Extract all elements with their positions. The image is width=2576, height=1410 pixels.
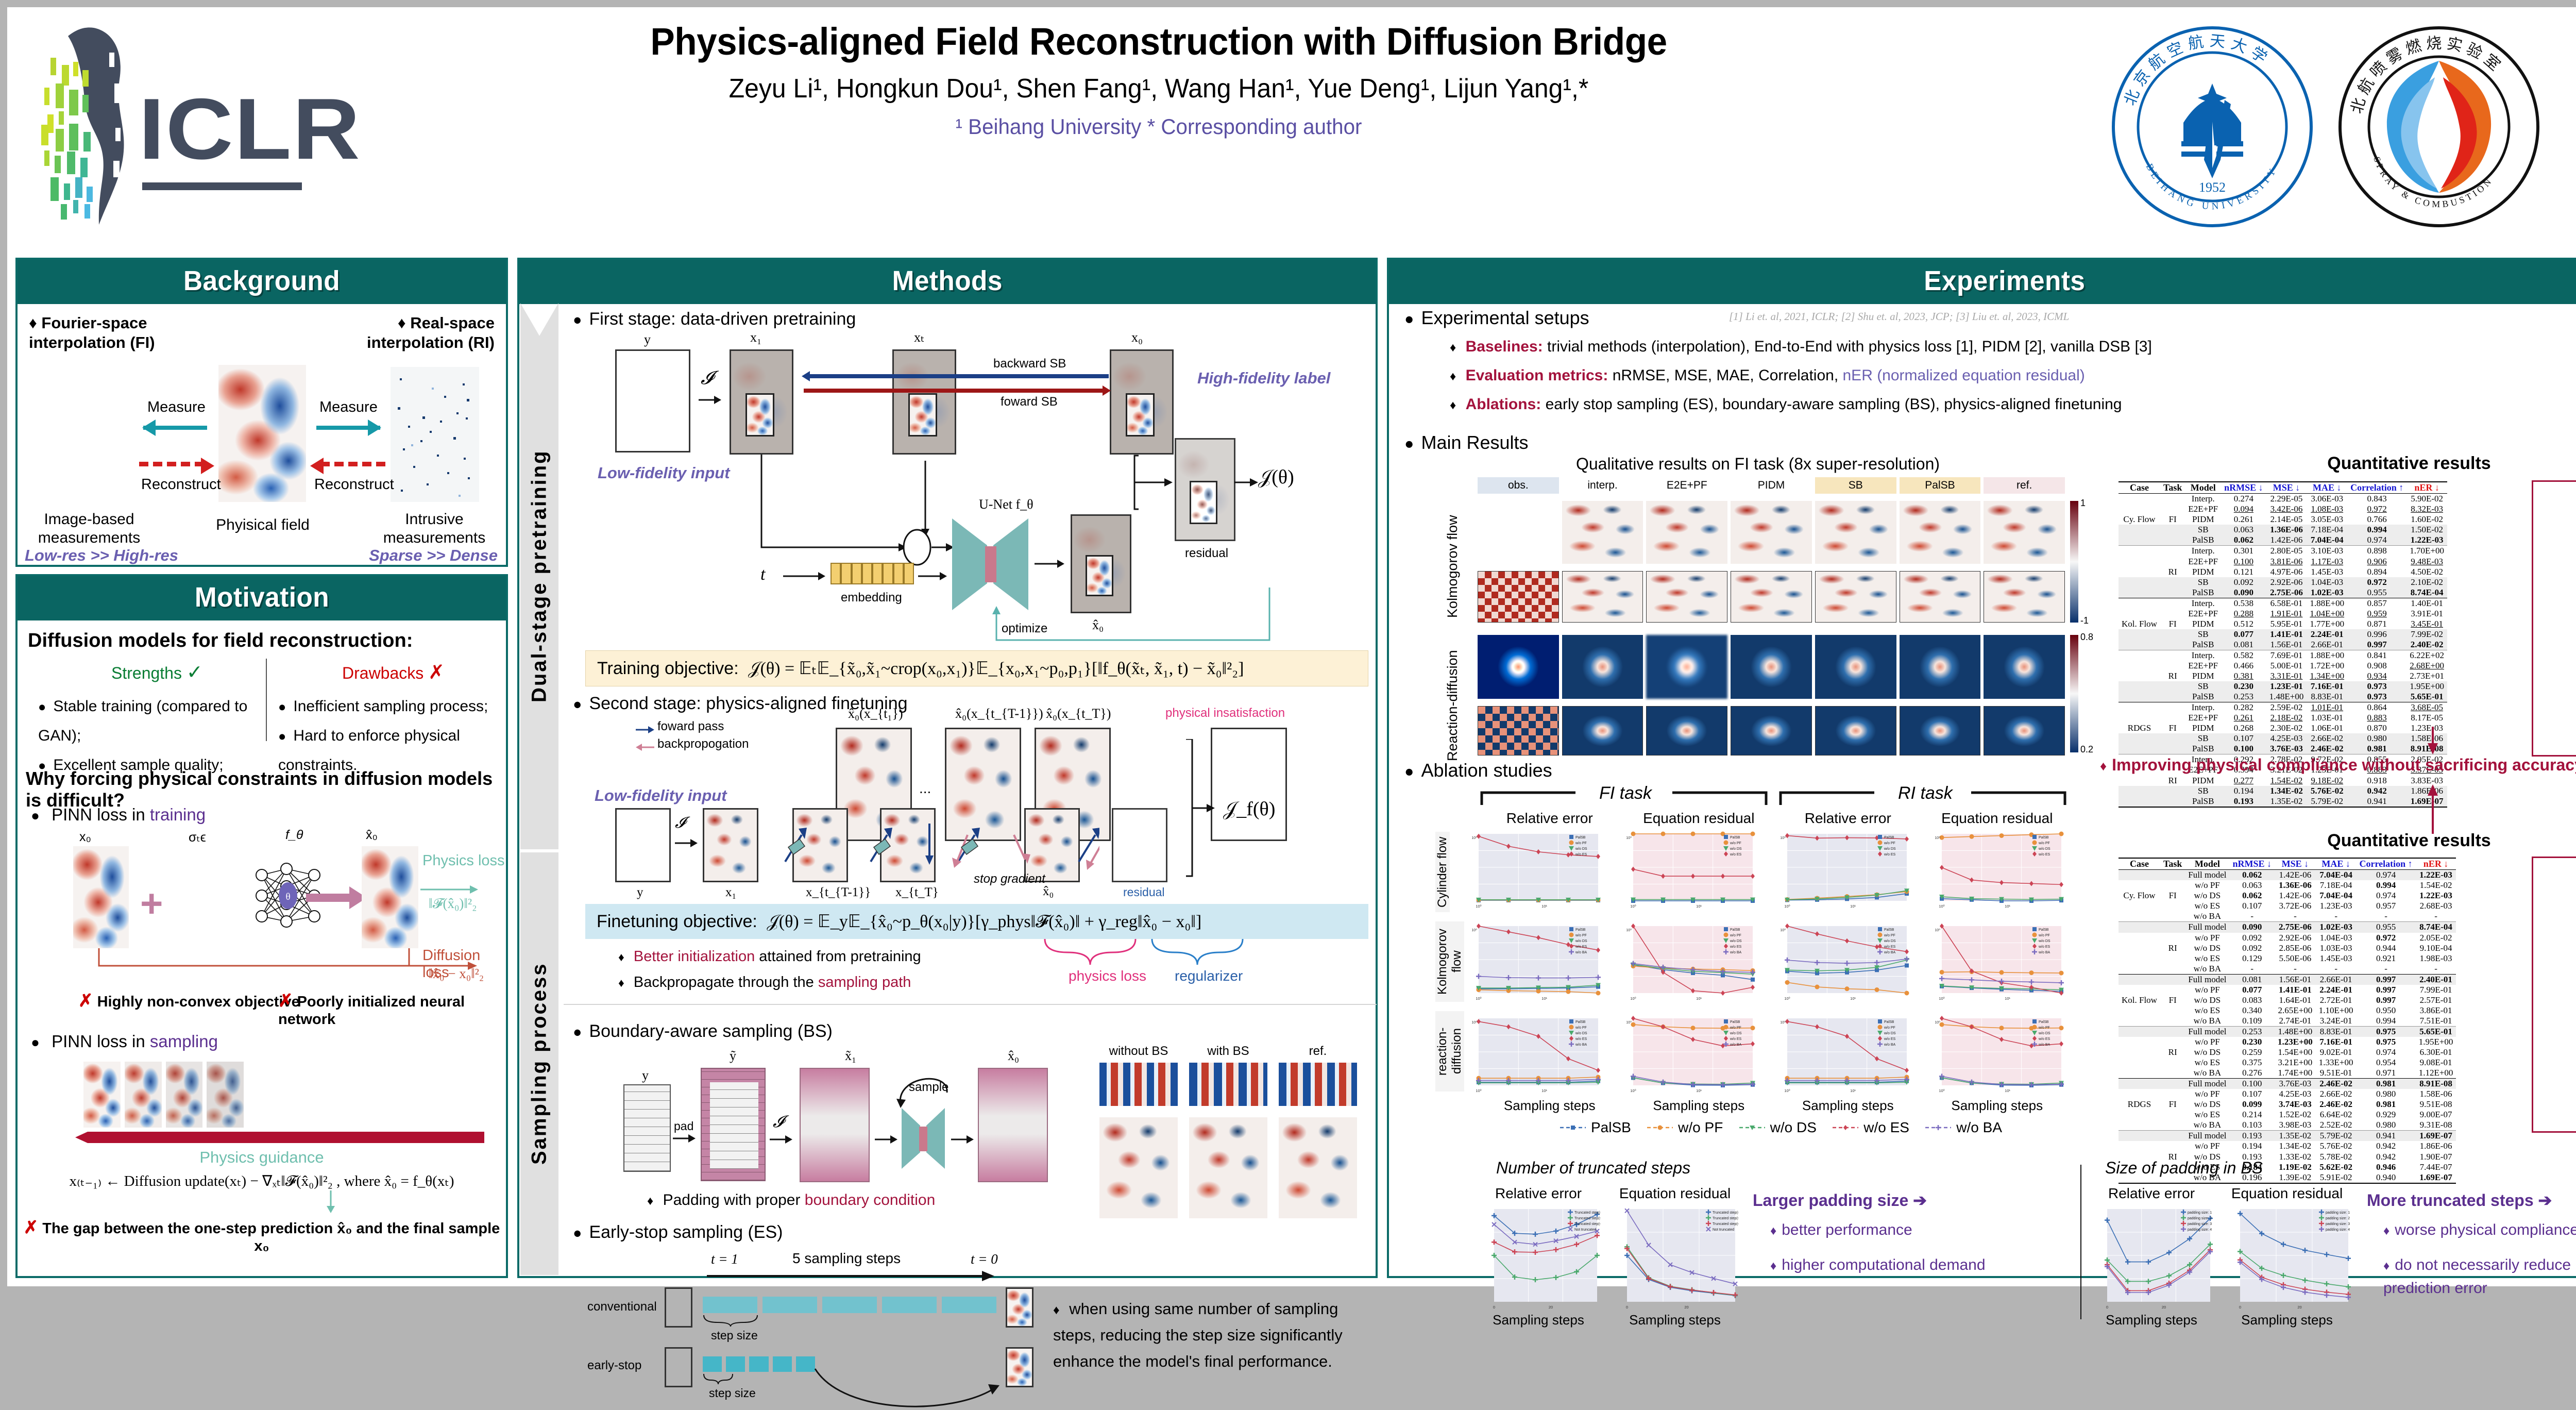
table-row: SB0.0771.41E-012.24E-010.9967.99E-02 [2119, 629, 2447, 640]
table-row: w/o ES0.1295.50E-061.45E-030.9211.98E-03 [2119, 953, 2456, 964]
table-cell-value: 1.04E-03 [2316, 933, 2357, 943]
table-row: Full model0.1931.35E-025.79E-020.9411.69… [2119, 1131, 2456, 1142]
table-cell-case [2119, 650, 2160, 661]
table-cell-value: 0.092 [2230, 933, 2275, 943]
table-row: Full model0.0621.42E-067.04E-040.9741.22… [2119, 870, 2456, 881]
table-cell-value: 0.230 [2230, 1037, 2275, 1047]
table-cell-value: 1.56E-01 [2266, 640, 2307, 650]
physics-loss-label: Physics loss [422, 852, 505, 869]
table-cell-value: 1.45E-03 [2316, 953, 2357, 964]
table-row: w/o PF0.0922.92E-061.04E-030.9722.05E-02 [2119, 933, 2456, 943]
qual-row-label-kolmogorov: Kolmogorov flow [1445, 502, 1461, 631]
table-cell-value: 0.975 [2357, 1037, 2416, 1047]
table-cell-task [2160, 650, 2185, 661]
es-early-start-image [665, 1347, 692, 1387]
table-row: Cy. FlowFIPIDM0.2612.14E-053.05E-030.766… [2119, 514, 2447, 525]
qual-zoom-reaction [1478, 706, 2065, 756]
table-cell-task [2160, 870, 2185, 881]
ner-highlight-box-main [2532, 480, 2576, 757]
table-cell-value: 2.05E-02 [2416, 933, 2456, 943]
svg-text:10¹: 10¹ [1850, 1088, 1856, 1093]
reconstruct-arrow-right-icon [320, 462, 385, 466]
motivation-panel-title: Motivation [18, 576, 506, 620]
table-cell-model: w/o PF [2185, 985, 2229, 995]
cross-icon-2: ✗ [278, 991, 293, 1011]
chart-row-title-2: reaction-diffusion [1435, 1011, 1464, 1092]
mini-chart: 020padding size: 1padding size: 2padding… [2223, 1205, 2351, 1311]
table-cell-value: 1.98E-03 [2416, 953, 2456, 964]
table-cell-value: 0.077 [2221, 629, 2266, 640]
forward-sb-label: foward SB [1001, 395, 1058, 409]
table-cell-value: 0.261 [2221, 713, 2266, 723]
table-cell-value: 6.64E-02 [2316, 1110, 2357, 1120]
table-cell-value: 0.980 [2357, 1120, 2416, 1131]
table-cell-value: 1.02E-03 [2307, 587, 2347, 598]
table-cell-value: 4.97E-06 [2266, 567, 2307, 577]
table-cell-task [2160, 1037, 2185, 1047]
svg-text:PalSB: PalSB [1730, 836, 1740, 840]
table-cell-value: 1.02E-03 [2316, 922, 2357, 933]
table-cell-task [2160, 880, 2185, 891]
ablation-chart-cell: 10⁰10⁰10¹PalSBw/o PFw/o DSw/o ES [1770, 830, 1915, 913]
table-cell-value: 0.994 [2357, 880, 2416, 891]
iclr-logo: ICLR [28, 19, 316, 235]
mini-chart: 10⁰10⁰10¹PalSBw/o PFw/o DSw/o ESw/o BA [1616, 922, 1756, 1002]
table-cell-task [2160, 744, 2185, 754]
table-cell-value: 0.194 [2221, 786, 2266, 796]
table-cell-value: 0.766 [2347, 514, 2406, 525]
iclr-head-icon [37, 23, 145, 229]
table-cell-value: 5.79E-02 [2316, 1131, 2357, 1142]
bs-unet-icon [900, 1105, 947, 1172]
table-cell-value: 0.083 [2230, 995, 2275, 1005]
svg-text:w/o PF: w/o PF [1575, 842, 1587, 845]
table-cell-model: w/o DS [2185, 1047, 2229, 1057]
table-row: w/o PF0.1074.25E-032.66E-020.9801.58E-06 [2119, 1089, 2456, 1099]
es-note: when using same number of sampling steps… [1053, 1296, 1357, 1374]
experiments-panel-title: Experiments [1389, 260, 2576, 304]
table-cell-task [2160, 681, 2185, 692]
bs-x1tilde-image [800, 1068, 870, 1182]
svg-text:padding size: 3: padding size: 3 [2188, 1222, 2212, 1226]
table-cell-case [2119, 943, 2160, 953]
table-cell-case [2119, 1162, 2160, 1172]
table-cell-value: 0.957 [2357, 901, 2416, 911]
table-row: RDGSFIw/o DS0.0993.74E-032.46E-020.9819.… [2119, 1099, 2456, 1110]
table-row: Interp.0.5386.58E-011.88E+000.8571.40E-0… [2119, 598, 2447, 609]
pad-chart-title-1: Equation residual [2223, 1185, 2351, 1202]
step-size-label-2: step size [709, 1386, 756, 1400]
table-cell-value: 1.74E+00 [2275, 1068, 2316, 1079]
setup-metrics: Evaluation metrics: nRMSE, MSE, MAE, Cor… [1450, 367, 2085, 384]
table-row: w/o BA----- [2119, 911, 2456, 922]
table-cell-model: PIDM [2185, 723, 2221, 733]
table-cell-task: RI [2160, 567, 2185, 577]
svg-text:20: 20 [2162, 1305, 2166, 1310]
trunc-chart-rel: 020Truncated step(s): 1Truncated step(s)… [1477, 1205, 1600, 1314]
table-cell-value: 7.18E-04 [2316, 880, 2357, 891]
xlabel-0: Sampling steps [1480, 1098, 1620, 1114]
table-cell-value: 1.01E-01 [2307, 702, 2347, 713]
table-cell-value: 2.65E+00 [2275, 1005, 2316, 1016]
svg-text:w/o PF: w/o PF [1884, 842, 1895, 845]
table-cell-value: 1.72E+00 [2307, 661, 2347, 671]
table-cell-value: 3.91E-01 [2406, 609, 2447, 619]
table-cell-value: 1.36E-06 [2266, 525, 2307, 535]
table-cell-case [2119, 901, 2160, 911]
table-cell-model: PalSB [2185, 744, 2221, 754]
svg-text:w/o DS: w/o DS [1575, 847, 1587, 851]
motivation-panel: Motivation Diffusion models for field re… [15, 574, 508, 1278]
table-header: nRMSE ↓ [2230, 858, 2275, 870]
bs-label-y: y [642, 1068, 649, 1083]
training-objective-label: Training objective: [597, 659, 739, 678]
table-cell-value: 0.301 [2221, 546, 2266, 557]
table-cell-value: 1.10E+00 [2316, 1005, 2357, 1016]
pad-arrow-icon [673, 1132, 697, 1145]
table-cell-value: 3.05E-03 [2307, 514, 2347, 525]
table-cell-value: 1.58E-06 [2416, 1089, 2456, 1099]
svg-text:10⁰: 10⁰ [1939, 1088, 1944, 1093]
table-cell-value: 0.973 [2347, 692, 2406, 702]
svg-text:10¹: 10¹ [1541, 1088, 1547, 1093]
svg-text:10⁰: 10⁰ [1630, 996, 1636, 1001]
nonconvex-note: ✗ Highly non-convex objective [78, 991, 300, 1011]
table-row: SB0.0631.36E-067.18E-040.9941.50E-02 [2119, 525, 2447, 535]
svg-text:0: 0 [2239, 1305, 2241, 1310]
svg-text:10⁰: 10⁰ [1939, 996, 1944, 1001]
ri-task-label: RI task [1898, 783, 1953, 803]
table-cell-value: 4.25E-03 [2266, 733, 2307, 744]
table-cell-value: 7.16E-01 [2316, 1037, 2357, 1047]
mini-chart: 10⁰10⁰10¹PalSBw/o PFw/o DSw/o ESw/o BA [1461, 922, 1601, 1002]
early-stop-steps-bar [703, 1356, 815, 1372]
svg-text:10⁰: 10⁰ [1935, 928, 1940, 932]
table-cell-case [2119, 953, 2160, 964]
table-cell-value: 2.66E-01 [2307, 640, 2347, 650]
ablation-chart-cell: 10⁰10⁰10¹PalSBw/o PFw/o DSw/o ESw/o BA [1616, 922, 1761, 1005]
table-cell-model: w/o BA [2185, 911, 2229, 922]
ablation-results-table: CaseTaskModelnRMSE ↓MSE ↓MAE ↓Correlatio… [2119, 858, 2456, 1184]
svg-text:10⁰: 10⁰ [1780, 1020, 1786, 1025]
table-cell-task [2160, 1026, 2185, 1037]
table-cell-value: 9.10E-04 [2416, 943, 2456, 953]
svg-text:10¹: 10¹ [1696, 996, 1702, 1001]
noise-field-image [182, 846, 239, 948]
table-cell-value: 1.69E-07 [2416, 1172, 2456, 1183]
pad-xlabel-1: Sampling steps [2223, 1312, 2351, 1328]
table-cell-model: PIDM [2185, 776, 2221, 786]
qual-zoom-kolmogorov [1478, 571, 2065, 623]
s1-high-fidelity-label: High-fidelity label [1197, 369, 1330, 388]
table-cell-case [2119, 1068, 2160, 1079]
table-cell-model: PIDM [2185, 619, 2221, 629]
table-cell-value: 0.946 [2357, 1162, 2416, 1172]
table-cell-value: 0.941 [2347, 796, 2406, 807]
table-cell-value: 1.23E+00 [2275, 1037, 2316, 1047]
table-cell-value: 0.466 [2221, 661, 2266, 671]
table-cell-value: 0.062 [2221, 535, 2266, 546]
table-cell-model: PalSB [2185, 692, 2221, 702]
table-cell-value: 0.871 [2347, 619, 2406, 629]
svg-text:PalSB: PalSB [1730, 928, 1740, 932]
table-cell-model: w/o BA [2185, 1172, 2229, 1183]
bs-label-x1tilde: x̃₁ [845, 1048, 856, 1064]
caption-intrusive: Intrusive measurements [375, 510, 494, 547]
experiments-panel: Experiments Experimental setups [1] Li e… [1387, 258, 2576, 1278]
table-cell-value: - [2275, 964, 2316, 975]
table-cell-model: E2E+PF [2185, 557, 2221, 567]
mini-chart: 020Truncated step(s): 1Truncated step(s)… [1609, 1205, 1738, 1311]
table-header: MSE ↓ [2275, 858, 2316, 870]
ellipsis: ... [919, 780, 931, 797]
table-cell-value: 0.063 [2230, 880, 2275, 891]
svg-text:10¹: 10¹ [2005, 996, 2010, 1001]
title-block: Physics-aligned Field Reconstruction wit… [316, 22, 2001, 139]
table-cell-value: 0.214 [2230, 1110, 2275, 1120]
down-arrow-icon [324, 1190, 338, 1214]
table-cell-task: FI [2160, 891, 2185, 901]
table-cell-task [2160, 911, 2185, 922]
table-header: nER ↓ [2406, 482, 2447, 494]
table-cell-task [2160, 598, 2185, 609]
table-cell-model: w/o BA [2185, 1120, 2229, 1131]
es-t1-label: t = 1 [711, 1251, 738, 1267]
cross-icon-1: ✗ [78, 991, 93, 1011]
caption-image-based: Image-based measurements [30, 510, 148, 547]
trunc-title: Number of truncated steps [1496, 1159, 1690, 1178]
table-cell-value: 0.538 [2221, 598, 2266, 609]
svg-text:θ: θ [285, 892, 290, 902]
svg-text:10¹: 10¹ [1696, 904, 1702, 909]
table-cell-value: 1.54E-02 [2416, 880, 2456, 891]
table-cell-value: 0.261 [2221, 514, 2266, 525]
table-cell-value: 9.00E-07 [2416, 1110, 2456, 1120]
table-cell-value: 1.69E-07 [2416, 1131, 2456, 1142]
svg-text:10¹: 10¹ [2005, 904, 2010, 909]
table-cell-task [2160, 1120, 2185, 1131]
table-cell-value: 9.02E-01 [2316, 1047, 2357, 1057]
svg-text:w/o BA: w/o BA [1575, 1043, 1587, 1047]
table-row: RIw/o DS0.2591.54E+009.02E-010.9746.30E-… [2119, 1047, 2456, 1057]
table-row: w/o PF0.0771.41E-012.24E-010.9977.99E-01 [2119, 985, 2456, 995]
svg-text:w/o ES: w/o ES [2038, 853, 2050, 857]
table-cell-value: 0.974 [2357, 891, 2416, 901]
s2-arrow-y-icon [675, 836, 699, 850]
Jf-bracket-icon [1175, 739, 1224, 894]
table-row: RDGSFIPIDM0.2682.30E-021.06E-010.8701.23… [2119, 723, 2447, 733]
table-cell-task [2160, 577, 2185, 587]
background-panel: Background ♦ Fourier-space interpolation… [15, 258, 508, 567]
s1-low-fidelity-input-image [615, 349, 690, 452]
ri-task-bracket: RI task [1778, 786, 2067, 810]
table-cell-value: 0.582 [2221, 650, 2266, 661]
trunc-xlabel-0: Sampling steps [1477, 1312, 1600, 1328]
colorbar-reaction [2070, 635, 2078, 752]
s2-rowlabel-y: y [637, 885, 643, 900]
table-cell-value: 3.72E-06 [2275, 901, 2316, 911]
svg-text:w/o DS: w/o DS [2038, 1032, 2050, 1035]
table-cell-value: 8.17E-05 [2406, 713, 2447, 723]
mini-chart: 020Truncated step(s): 1Truncated step(s)… [1477, 1205, 1600, 1311]
spray-combustion-lab-seal-icon: SPRAY & COMBUSTION 北航喷雾燃烧实验室 [2336, 24, 2542, 230]
table-cell-value: 1.60E-02 [2406, 514, 2447, 525]
table-cell-model: PIDM [2185, 567, 2221, 577]
training-objective-box: Training objective: 𝒥(θ) = 𝔼ₜ𝔼_{x̃₀,x̃₁~… [585, 650, 1368, 686]
table-cell-value: 9.51E-01 [2316, 1068, 2357, 1079]
sampling-sequence-images [83, 1062, 490, 1128]
quant-title-main: Quantitative results [2265, 454, 2553, 474]
s1-objective-output: 𝒥(θ) [1258, 466, 1294, 489]
table-cell-case [2119, 494, 2160, 505]
table-cell-task [2160, 1172, 2185, 1183]
table-cell-value: 2.10E-02 [2406, 577, 2447, 587]
ner-highlight-box-ablation [2532, 857, 2576, 1133]
table-header: Task [2160, 482, 2185, 494]
table-row: Full model0.0902.75E-061.02E-030.9558.74… [2119, 922, 2456, 933]
table-cell-value: - [2357, 964, 2416, 975]
table-cell-value: 0.857 [2347, 598, 2406, 609]
legend-item: PalSB [1559, 1119, 1631, 1136]
qual-column-headers: obs. interp. E2E+PF PIDM SB PalSB ref. [1478, 477, 2065, 494]
divider [266, 659, 267, 741]
s1-t-label: t [760, 565, 765, 584]
pinn-sampling-bullet: PINN loss in sampling [31, 1032, 218, 1051]
table-cell-value: 1.03E-01 [2307, 713, 2347, 723]
bs-compare-label-1: with BS [1189, 1044, 1267, 1059]
table-row: E2E+PF0.2612.18E-021.03E-010.8838.17E-05 [2119, 713, 2447, 723]
table-cell-value: 0.184 [2230, 1162, 2275, 1172]
legend-label: PalSB [1591, 1119, 1631, 1136]
table-cell-value: 2.29E-05 [2266, 494, 2307, 505]
note-padding-0: better performance [1770, 1221, 1912, 1239]
ablation-chart-cell: 10⁰10⁰10¹PalSBw/o PFw/o DSw/o ES [1924, 830, 2070, 913]
table-cell-case: Cy. Flow [2119, 891, 2160, 901]
table-cell-value: 1.95E+00 [2406, 681, 2447, 692]
s1-x0-image [1110, 349, 1174, 455]
table-cell-task: RI [2160, 1047, 2185, 1057]
table-cell-value: 8.74E-04 [2406, 587, 2447, 598]
table-cell-value: 0.973 [2347, 681, 2406, 692]
table-header: Correlation ↑ [2357, 858, 2416, 870]
table-cell-task [2160, 1131, 2185, 1142]
table-cell-value: 0.276 [2230, 1068, 2275, 1079]
qual-col-2: E2E+PF [1646, 477, 1727, 494]
svg-text:w/o PF: w/o PF [1730, 1026, 1741, 1030]
colorbar-kolmogorov [2070, 501, 2078, 623]
table-cell-value: 1.36E-06 [2275, 880, 2316, 891]
table-cell-value: 9.51E-08 [2416, 1099, 2456, 1110]
table-cell-value: 1.56E-01 [2275, 974, 2316, 985]
table-cell-value: 2.14E-05 [2266, 514, 2307, 525]
table-cell-value: 0.081 [2221, 640, 2266, 650]
table-cell-task: RI [2160, 1152, 2185, 1162]
table-row: w/o BA0.1033.98E-032.52E-020.9809.31E-08 [2119, 1120, 2456, 1131]
table-cell-value: 0.944 [2357, 943, 2416, 953]
s2-label-xtT: x̂₀(x_{t_T}) [1046, 706, 1111, 721]
table-cell-value: 0.997 [2357, 995, 2416, 1005]
table-cell-value: 2.30E-02 [2266, 723, 2307, 733]
embedding-label: embedding [841, 591, 902, 605]
table-cell-value: 0.121 [2221, 567, 2266, 577]
table-cell-value: 0.997 [2357, 974, 2416, 985]
table-cell-value: 3.45E-01 [2406, 619, 2447, 629]
table-cell-value: 1.48E+00 [2275, 1026, 2316, 1037]
table-cell-value: 0.980 [2357, 1089, 2416, 1099]
fi-task-bracket: FI task [1480, 786, 1768, 810]
table-cell-value: 3.86E-01 [2416, 1005, 2456, 1016]
regularizer-brace-label: regularizer [1175, 968, 1243, 984]
qualitative-title: Qualitative results on FI task (8x super… [1438, 455, 2077, 474]
note-padding-1: higher computational demand [1770, 1253, 1987, 1277]
table-row: PalSB0.0621.42E-067.04E-040.9741.22E-03 [2119, 535, 2447, 546]
sampling-word: sampling [150, 1032, 218, 1051]
table-row: E2E+PF0.4665.00E-011.72E+000.9082.68E+00 [2119, 661, 2447, 671]
svg-text:10¹: 10¹ [1850, 996, 1856, 1001]
table-cell-value: 0.981 [2357, 1079, 2416, 1089]
table-row: Interp.0.5827.69E-011.88E+000.8416.22E+0… [2119, 650, 2447, 661]
table-row: Interp.0.2742.29E-053.06E-030.8435.90E-0… [2119, 494, 2447, 505]
table-header: MSE ↓ [2266, 482, 2307, 494]
table-cell-value: 0.980 [2347, 733, 2406, 744]
table-cell-value: 1.42E-06 [2275, 870, 2316, 881]
table-cell-value: 0.107 [2230, 1089, 2275, 1099]
table-cell-value: 0.193 [2230, 1131, 2275, 1142]
table-cell-model: E2E+PF [2185, 609, 2221, 619]
s2-Jf-output: 𝒥_f(θ) [1223, 798, 1275, 820]
table-cell-value: 0.950 [2357, 1005, 2416, 1016]
table-cell-case [2119, 744, 2160, 754]
physics-loss-brace-label: physics loss [1069, 968, 1146, 984]
ft-bullet-1: Backpropagate through the sampling path [618, 974, 911, 991]
caption-physical-field: Phyisical field [203, 516, 323, 534]
table-cell-value: 5.76E-02 [2316, 1141, 2357, 1151]
svg-text:w/o PF: w/o PF [1884, 1026, 1895, 1030]
svg-text:Truncated step(s): 5: Truncated step(s): 5 [1574, 1222, 1600, 1226]
table-cell-value: 0.109 [2230, 1016, 2275, 1027]
table-cell-value: 0.340 [2230, 1005, 2275, 1016]
es-early-end-image [1006, 1347, 1033, 1387]
t-arrow-icon [783, 569, 826, 583]
optimize-loop-icon [983, 587, 1272, 648]
table-cell-value: 1.54E+00 [2275, 1047, 2316, 1057]
table-cell-value: 2.66E-02 [2307, 733, 2347, 744]
bs-arrow-unet-icon [875, 1133, 899, 1146]
table-cell-task [2160, 796, 2185, 807]
table-cell-case [2119, 587, 2160, 598]
conventional-steps-bar [703, 1297, 996, 1313]
table-cell-value: 1.19E-02 [2275, 1162, 2316, 1172]
mini-chart: 10⁰10⁰10¹PalSBw/o PFw/o DSw/o ES [1770, 830, 1910, 910]
table-cell-value: 1.70E+00 [2406, 546, 2447, 557]
table-cell-model: PalSB [2185, 796, 2221, 807]
table-cell-model: w/o DS [2185, 943, 2229, 953]
svg-text:padding size: 1: padding size: 1 [2326, 1211, 2350, 1215]
table-cell-case [2119, 1037, 2160, 1047]
table-cell-model: w/o ES [2185, 1057, 2229, 1068]
backprop-label: backpropogation [657, 737, 749, 751]
ablation-chart-cell: 10⁰10⁰10¹PalSBw/o PFw/o DSw/o ESw/o BA [1770, 922, 1915, 1005]
table-cell-value: 2.75E-06 [2275, 922, 2316, 933]
table-cell-value: 0.918 [2347, 776, 2406, 786]
table-cell-value: 5.78E-02 [2316, 1152, 2357, 1162]
svg-text:PalSB: PalSB [1575, 1020, 1586, 1024]
table-header: MAE ↓ [2307, 482, 2347, 494]
svg-text:PalSB: PalSB [1575, 928, 1586, 932]
table-cell-task: RI [2160, 671, 2185, 681]
table-cell-value: 0.193 [2221, 796, 2266, 807]
author-list: Zeyu Li¹, Hongkun Dou¹, Shen Fang¹, Wang… [350, 73, 1967, 104]
